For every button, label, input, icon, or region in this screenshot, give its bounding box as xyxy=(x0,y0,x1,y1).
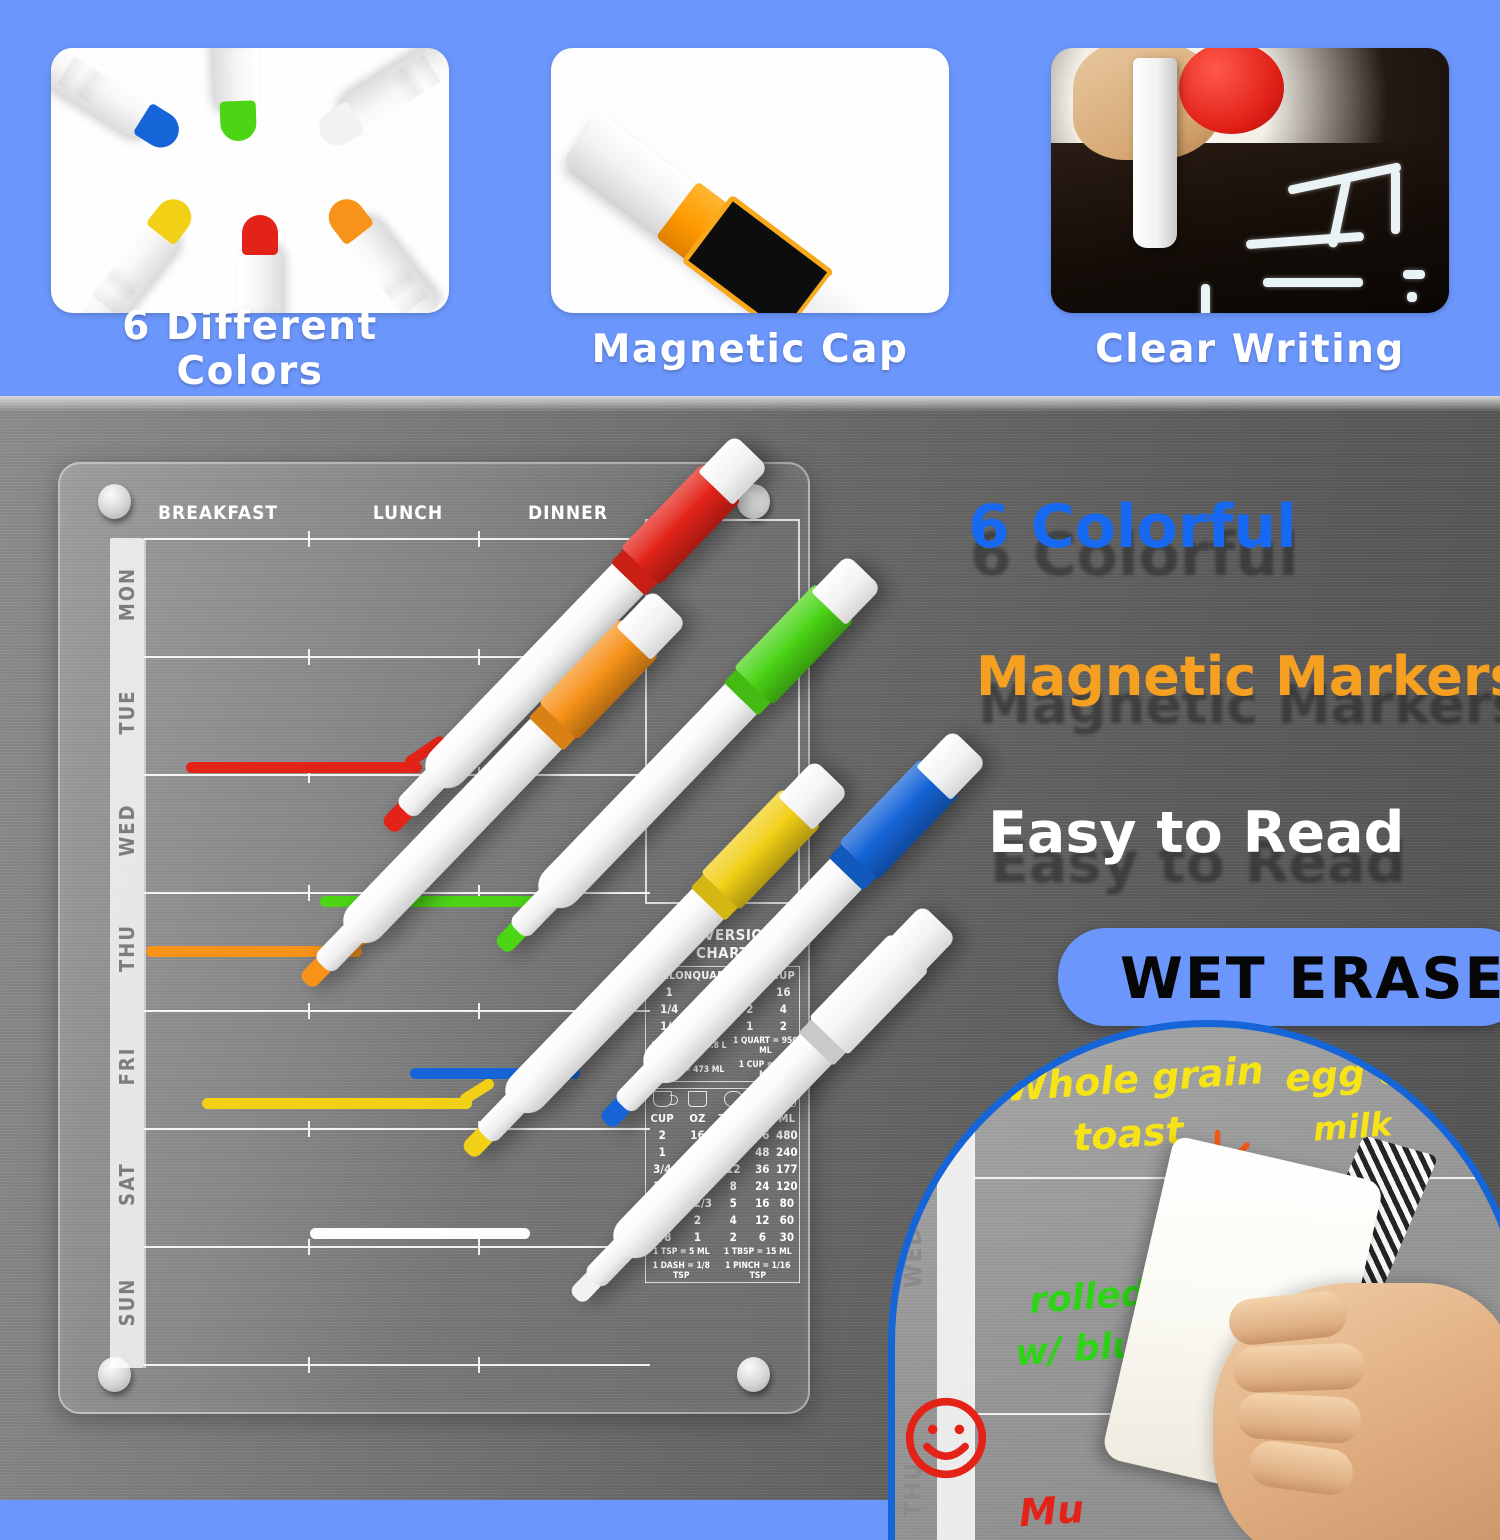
written-stroke xyxy=(1263,278,1363,287)
grid-row-line xyxy=(144,1128,650,1130)
finger xyxy=(1232,1343,1366,1394)
cell: 1 xyxy=(678,1228,716,1245)
cell: 16 xyxy=(750,1194,775,1211)
day-label-tue: TUE xyxy=(115,666,139,758)
grid-row-line xyxy=(144,1364,650,1366)
grid-tick xyxy=(478,1003,480,1019)
cell: 480 xyxy=(775,1126,800,1143)
wet-erase-label: WET ERASE xyxy=(1120,946,1500,1012)
cell: 1 xyxy=(646,1143,679,1160)
marker-tip-red xyxy=(238,241,282,313)
table-note-row: 1 TSP = 5 ML 1 TBSP = 15 ML xyxy=(646,1245,800,1259)
cell: 4 xyxy=(717,1211,750,1228)
caption-six-colors: 6 Different Colors xyxy=(51,304,449,394)
table-note-row: 1 DASH = 1/8 TSP 1 PINCH = 1/16 TSP xyxy=(646,1259,800,1283)
grid-row-line xyxy=(144,1246,650,1248)
scale-icon xyxy=(678,1089,716,1111)
written-stroke xyxy=(1403,270,1425,279)
wet-erase-badge[interactable]: WET ERASE xyxy=(1058,928,1500,1026)
cell: 177 xyxy=(775,1160,800,1177)
grid-tick xyxy=(308,1121,310,1137)
grid-tick xyxy=(308,1003,310,1019)
header-lunch: LUNCH xyxy=(328,502,488,532)
panel-clear-writing[interactable] xyxy=(1051,48,1449,313)
marker-tip-green xyxy=(212,48,260,116)
grid-tick xyxy=(308,1357,310,1373)
grid-row-line xyxy=(144,774,650,776)
marketing-line-3: Easy to Read xyxy=(988,800,1404,866)
header-breakfast: BREAKFAST xyxy=(148,502,328,532)
cell: 2 xyxy=(717,1228,750,1245)
grid-tick xyxy=(478,1239,480,1255)
grid-tick xyxy=(478,649,480,665)
grid-tick xyxy=(308,531,310,547)
cell: 8 xyxy=(717,1177,750,1194)
marketing-line-1: 6 Colorful xyxy=(968,492,1297,562)
finger xyxy=(1246,1438,1355,1498)
cell: 48 xyxy=(750,1143,775,1160)
day-label-fri: FRI xyxy=(115,1020,139,1112)
cell: 2 xyxy=(768,1017,800,1034)
feature-panels xyxy=(0,48,1500,313)
marker-stroke-yellow xyxy=(202,1098,472,1109)
cell: 5 xyxy=(717,1194,750,1211)
grid-tick xyxy=(478,531,480,547)
marker-body xyxy=(562,112,863,313)
cell: 60 xyxy=(775,1211,800,1228)
marker-stroke-white xyxy=(310,1228,530,1239)
marker-tip-blue xyxy=(51,48,166,144)
written-stroke xyxy=(1391,170,1400,234)
handwriting-mu: Mu xyxy=(1018,1487,1086,1535)
day-label-sat: SAT xyxy=(115,1138,139,1230)
smiley-doodle xyxy=(897,1395,995,1481)
day-label-sun: SUN xyxy=(115,1256,139,1348)
cell: 12 xyxy=(750,1211,775,1228)
panel-magnetic-cap[interactable] xyxy=(551,48,949,313)
cell: 1 xyxy=(732,1017,768,1034)
marker-tip-orange xyxy=(334,210,441,313)
marketing-line-2: Magnetic Markers xyxy=(976,645,1500,708)
day-label-mon: MON xyxy=(115,548,139,640)
feature-banner: 6 Different Colors Magnetic Cap Clear Wr… xyxy=(0,0,1500,396)
panel-six-colors[interactable] xyxy=(51,48,449,313)
handwriting-egg: egg & xyxy=(1284,1048,1413,1101)
marker-tip-white xyxy=(332,48,449,142)
grid-tick xyxy=(308,649,310,665)
grid-tick xyxy=(478,1357,480,1373)
header-dinner: DINNER xyxy=(488,502,648,532)
day-label-wed: WED xyxy=(115,784,139,876)
red-object xyxy=(1179,48,1284,134)
cell: 2 xyxy=(646,1126,679,1143)
cell: 30 xyxy=(775,1228,800,1245)
marker-stroke-yellow-bend xyxy=(458,1077,496,1106)
cell: 240 xyxy=(775,1143,800,1160)
meal-header-row: BREAKFAST LUNCH DINNER xyxy=(148,502,648,532)
written-stroke xyxy=(1407,292,1417,302)
cell: 36 xyxy=(750,1160,775,1177)
note: 1 TSP = 5 ML xyxy=(646,1245,717,1259)
cell: 80 xyxy=(775,1194,800,1211)
grid-row-line xyxy=(144,538,650,540)
cell: 4 xyxy=(768,1000,800,1017)
finger xyxy=(1236,1392,1362,1444)
metal-sheen xyxy=(0,396,1500,412)
marker-stroke-red xyxy=(186,762,422,773)
handwriting-toast: toast xyxy=(1072,1108,1186,1160)
grid-tick xyxy=(308,885,310,901)
white-marker xyxy=(1133,58,1177,248)
corner-magnet-top-left xyxy=(98,484,131,519)
col-oz: OZ xyxy=(678,1110,716,1126)
marker-tip-group xyxy=(51,48,449,313)
cell: 16 xyxy=(768,983,800,1000)
grid-tick xyxy=(308,1239,310,1255)
hand xyxy=(1213,1283,1500,1540)
note: 1 DASH = 1/8 TSP xyxy=(646,1259,717,1283)
day-label-thu: THU xyxy=(115,902,139,994)
inset-day-label-wed: WED xyxy=(899,1211,927,1303)
cell: 24 xyxy=(750,1177,775,1194)
panel-captions: 6 Different Colors Magnetic Cap Clear Wr… xyxy=(0,318,1500,380)
caption-magnetic-cap: Magnetic Cap xyxy=(551,327,949,372)
marker-tip-yellow xyxy=(78,210,185,313)
written-stroke xyxy=(1201,284,1210,313)
note: 1 PINCH = 1/16 TSP xyxy=(717,1259,800,1283)
note: 1 TBSP = 15 ML xyxy=(717,1245,800,1259)
cell: 120 xyxy=(775,1177,800,1194)
cell: 6 xyxy=(750,1228,775,1245)
caption-clear-writing: Clear Writing xyxy=(1051,327,1449,372)
col-cup: CUP xyxy=(646,1110,679,1126)
